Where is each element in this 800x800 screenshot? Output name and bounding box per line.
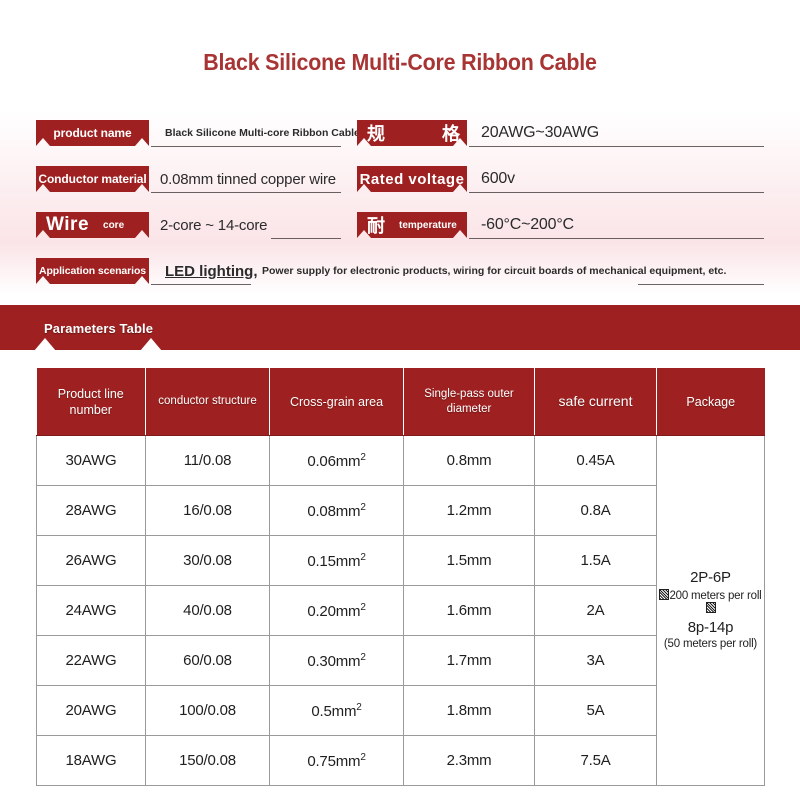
spec-value-temperature: -60°C~200°C — [481, 212, 574, 238]
missing-glyph-icon — [706, 602, 716, 613]
cell-conductor-structure: 100/0.08 — [146, 686, 270, 736]
cell-cross-grain-area: 0.75mm2 — [270, 736, 404, 786]
spec-label-text: Rated voltage — [360, 171, 465, 188]
spec-label-text: Application scenarios — [39, 265, 146, 277]
specification-block: product name Black Silicone Multi-core R… — [0, 110, 800, 295]
spec-sublabel-text: core — [103, 220, 124, 231]
column-header-single-pass-outer-diameter: Single-pass outer diameter — [404, 368, 535, 436]
cell-cross-grain-area: 0.06mm2 — [270, 436, 404, 486]
cell-single-pass-outer-diameter: 1.7mm — [404, 636, 535, 686]
cell-package: 2P-6P 200 meters per roll 8p-14p (50 met… — [657, 436, 765, 786]
cell-cross-grain-area: 0.30mm2 — [270, 636, 404, 686]
cell-single-pass-outer-diameter: 1.8mm — [404, 686, 535, 736]
spec-label-product-name: product name — [36, 120, 149, 146]
banner-notch-icon — [140, 338, 162, 350]
spec-underline — [151, 192, 341, 193]
column-header-package: Package — [657, 368, 765, 436]
spec-label-conductor-material: Conductor material — [36, 166, 149, 192]
column-header-cross-grain-area: Cross-grain area — [270, 368, 404, 436]
parameters-table-wrapper: Product line number conductor structure … — [36, 368, 764, 786]
cell-single-pass-outer-diameter: 2.3mm — [404, 736, 535, 786]
spec-value-conductor-material: 0.08mm tinned copper wire — [160, 166, 336, 192]
page-title: Black Silicone Multi-Core Ribbon Cable — [28, 49, 772, 76]
spec-label-specification: 规 格 — [357, 120, 467, 146]
spec-label-text: 规 格 — [367, 120, 467, 146]
cell-safe-current: 7.5A — [535, 736, 657, 786]
table-body: 30AWG 11/0.08 0.06mm2 0.8mm 0.45A 2P-6P … — [37, 436, 765, 786]
spec-sublabel-text: temperature — [399, 220, 457, 231]
spec-value-specification: 20AWG~30AWG — [481, 120, 599, 146]
column-header-safe-current: safe current — [535, 368, 657, 436]
banner-notch-icon — [34, 338, 56, 350]
cell-product-line-number: 24AWG — [37, 586, 146, 636]
cell-single-pass-outer-diameter: 1.5mm — [404, 536, 535, 586]
spec-label-text: 耐 — [367, 212, 385, 238]
spec-row-application-scenarios: Application scenarios LED lighting, Powe… — [0, 250, 800, 296]
spec-row-wire-core: Wire core 2-core ~ 14-core 耐 temperature… — [0, 204, 800, 250]
parameters-table-banner-label: Parameters Table — [44, 321, 153, 336]
table-row: 28AWG 16/0.08 0.08mm2 1.2mm 0.8A — [37, 486, 765, 536]
cell-cross-grain-area: 0.15mm2 — [270, 536, 404, 586]
spec-label-text: Conductor material — [38, 172, 146, 186]
package-line-3: 8p-14p — [659, 620, 762, 635]
cell-single-pass-outer-diameter: 0.8mm — [404, 436, 535, 486]
cell-conductor-structure: 30/0.08 — [146, 536, 270, 586]
cell-product-line-number: 26AWG — [37, 536, 146, 586]
cell-product-line-number: 18AWG — [37, 736, 146, 786]
spec-label-text: Wire — [46, 214, 89, 236]
spec-label-text: product name — [53, 126, 131, 140]
cell-cross-grain-area: 0.08mm2 — [270, 486, 404, 536]
table-row: 22AWG 60/0.08 0.30mm2 1.7mm 3A — [37, 636, 765, 686]
cell-safe-current: 1.5A — [535, 536, 657, 586]
spec-value-application-rest: Power supply for electronic products, wi… — [262, 258, 726, 284]
spec-underline — [271, 238, 341, 239]
cell-product-line-number: 20AWG — [37, 686, 146, 736]
column-header-conductor-structure: conductor structure — [146, 368, 270, 436]
package-line-2-text: 200 meters per roll — [669, 590, 761, 602]
spec-value-application-lead: LED lighting, — [165, 258, 257, 284]
spec-underline — [638, 284, 764, 285]
column-header-product-line-number: Product line number — [37, 368, 146, 436]
spec-underline — [151, 146, 341, 147]
cell-cross-grain-area: 0.5mm2 — [270, 686, 404, 736]
cell-conductor-structure: 60/0.08 — [146, 636, 270, 686]
cell-product-line-number: 28AWG — [37, 486, 146, 536]
cell-product-line-number: 22AWG — [37, 636, 146, 686]
cell-conductor-structure: 150/0.08 — [146, 736, 270, 786]
spec-underline — [469, 146, 764, 147]
spec-label-application-scenarios: Application scenarios — [36, 258, 149, 284]
table-row: 26AWG 30/0.08 0.15mm2 1.5mm 1.5A — [37, 536, 765, 586]
spec-underline — [469, 192, 764, 193]
cell-product-line-number: 30AWG — [37, 436, 146, 486]
package-line-2: 200 meters per roll — [659, 589, 762, 616]
cell-single-pass-outer-diameter: 1.2mm — [404, 486, 535, 536]
cell-cross-grain-area: 0.20mm2 — [270, 586, 404, 636]
parameters-table: Product line number conductor structure … — [36, 368, 765, 786]
spec-row-conductor-material: Conductor material 0.08mm tinned copper … — [0, 158, 800, 204]
spec-label-temperature: 耐 temperature — [357, 212, 467, 238]
table-row: 30AWG 11/0.08 0.06mm2 0.8mm 0.45A 2P-6P … — [37, 436, 765, 486]
cell-safe-current: 0.8A — [535, 486, 657, 536]
cell-safe-current: 5A — [535, 686, 657, 736]
cell-conductor-structure: 11/0.08 — [146, 436, 270, 486]
cell-safe-current: 3A — [535, 636, 657, 686]
spec-sheet-page: Black Silicone Multi-Core Ribbon Cable p… — [0, 0, 800, 800]
cell-single-pass-outer-diameter: 1.6mm — [404, 586, 535, 636]
table-row: 20AWG 100/0.08 0.5mm2 1.8mm 5A — [37, 686, 765, 736]
table-row: 18AWG 150/0.08 0.75mm2 2.3mm 7.5A — [37, 736, 765, 786]
spec-value-product-name: Black Silicone Multi-core Ribbon Cable — [165, 120, 360, 146]
spec-row-product-name: product name Black Silicone Multi-core R… — [0, 112, 800, 158]
package-line-1: 2P-6P — [659, 570, 762, 585]
spec-label-rated-voltage: Rated voltage — [357, 166, 467, 192]
spec-label-wire-core: Wire core — [36, 212, 149, 238]
cell-conductor-structure: 40/0.08 — [146, 586, 270, 636]
table-header-row: Product line number conductor structure … — [37, 368, 765, 436]
table-row: 24AWG 40/0.08 0.20mm2 1.6mm 2A — [37, 586, 765, 636]
parameters-table-banner: Parameters Table — [0, 305, 800, 350]
spec-underline — [151, 284, 251, 285]
spec-value-rated-voltage: 600v — [481, 166, 515, 192]
spec-underline — [469, 238, 764, 239]
package-line-4: (50 meters per roll) — [659, 639, 762, 651]
cell-safe-current: 0.45A — [535, 436, 657, 486]
cell-safe-current: 2A — [535, 586, 657, 636]
missing-glyph-icon — [659, 589, 669, 600]
spec-value-wire-core: 2-core ~ 14-core — [160, 212, 267, 238]
cell-conductor-structure: 16/0.08 — [146, 486, 270, 536]
